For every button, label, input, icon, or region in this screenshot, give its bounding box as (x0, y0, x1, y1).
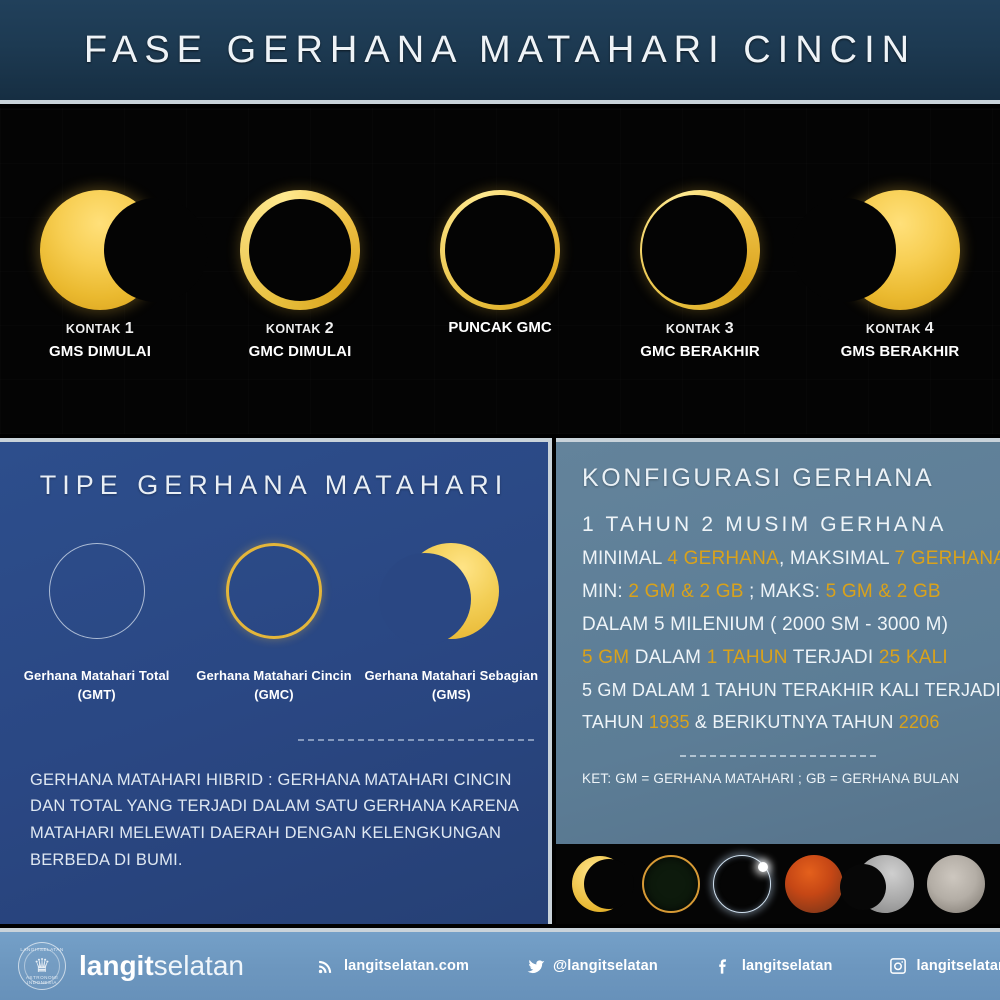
social-label: langitselatanmedia (916, 958, 1000, 974)
type-label: Gerhana Matahari Cincin (GMC) (196, 667, 351, 705)
contact-label: KONTAK (866, 322, 921, 336)
phase-caption: KONTAK 1 GMS DIMULAI (0, 318, 200, 362)
instagram-icon (888, 956, 908, 976)
brand-name: langitselatan (79, 952, 244, 980)
phase-item: KONTAK 4 GMS BERAKHIR (800, 108, 1000, 368)
phase-desc: GMS BERAKHIR (800, 342, 1000, 362)
highlight-run: 5 GM (582, 647, 629, 668)
contact-number: 4 (925, 320, 934, 337)
annular-crescent-photo (571, 855, 629, 913)
highlight-run: 1 TAHUN (707, 647, 788, 668)
header-band: FASE GERHANA MATAHARI CINCIN (0, 0, 1000, 104)
highlight-run: 1935 (649, 712, 690, 732)
type-abbr: (GMC) (196, 686, 351, 705)
config-line-years: TAHUN 1935 & BERIKUTNYA TAHUN 2206 (582, 712, 1000, 733)
text-run: MIN: (582, 581, 628, 602)
type-abbr: (GMT) (24, 686, 170, 705)
social-label: langitselatan.com (344, 958, 469, 974)
partial-lunar-photo (856, 855, 914, 913)
type-name: Gerhana Matahari Cincin (196, 667, 351, 686)
text-run: ; MAKS: (744, 581, 826, 602)
config-line-millennium-range: DALAM 5 MILENIUM ( 2000 SM - 3000 M) (582, 614, 1000, 636)
page-title: FASE GERHANA MATAHARI CINCIN (84, 29, 916, 72)
dark-outline-circle-icon (49, 543, 145, 639)
text-run: , MAKSIMAL (779, 548, 895, 569)
full-moon-photo (927, 855, 985, 913)
eclipse-types-panel: TIPE GERHANA MATAHARI Gerhana Matahari T… (0, 438, 552, 924)
phase-caption: PUNCAK GMC (400, 318, 600, 338)
brand-block[interactable]: LANGITSELATAN ♛ ASTRONOMI INDONESIA lang… (18, 942, 244, 990)
contact-number: 3 (725, 320, 734, 337)
types-row: Gerhana Matahari Total (GMT) Gerhana Mat… (0, 543, 548, 705)
config-line-minmax-eclipses: MINIMAL 4 GERHANA, MAKSIMAL 7 GERHANA (582, 548, 1000, 570)
golden-ring-icon (226, 543, 322, 639)
phase-desc: PUNCAK GMC (400, 318, 600, 338)
annular-ring-thin-icon (440, 190, 560, 310)
contact-number: 1 (125, 320, 134, 337)
type-name: Gerhana Matahari Sebagian (364, 667, 538, 686)
type-name: Gerhana Matahari Total (24, 667, 170, 686)
contact-label: KONTAK (266, 322, 321, 336)
annular-ring-thick-icon (240, 190, 360, 310)
config-subtitle: 1 TAHUN 2 MUSIM GERHANA (582, 513, 1000, 537)
rss-icon (316, 956, 336, 976)
highlight-run: 4 GERHANA (667, 548, 779, 569)
contact-label: KONTAK (666, 322, 721, 336)
types-panel-title: TIPE GERHANA MATAHARI (0, 470, 548, 501)
social-links: langitselatan.com @langitselatan langits… (316, 956, 1000, 976)
social-link-twitter[interactable]: @langitselatan (525, 956, 658, 976)
config-line-min-max-gm-gb: MIN: 2 GM & 2 GB ; MAKS: 5 GM & 2 GB (582, 581, 1000, 603)
type-item-gms: Gerhana Matahari Sebagian (GMS) (363, 543, 540, 705)
footer-bar: LANGITSELATAN ♛ ASTRONOMI INDONESIA lang… (0, 928, 1000, 1000)
golden-crescent-icon (403, 543, 499, 639)
brand-name-light: selatan (154, 950, 244, 981)
hybrid-eclipse-note: GERHANA MATAHARI HIBRID : GERHANA MATAHA… (30, 767, 522, 874)
text-run: TAHUN (582, 712, 649, 732)
phase-caption: KONTAK 4 GMS BERAKHIR (800, 318, 1000, 362)
highlight-run: 2 GM & 2 GB (628, 581, 743, 602)
partial-sun-bite-left-icon (840, 190, 960, 310)
text-run: DALAM (629, 647, 706, 668)
total-corona-photo (713, 855, 771, 913)
eclipse-phases-section: KONTAK 1 GMS DIMULAI KONTAK 2 GMC DIMULA… (0, 108, 1000, 434)
annular-ring-photo (642, 855, 700, 913)
text-run: & BERIKUTNYA TAHUN (690, 712, 899, 732)
eclipse-config-panel: KONFIGURASI GERHANA 1 TAHUN 2 MUSIM GERH… (556, 438, 1000, 924)
legend-note: KET: GM = GERHANA MATAHARI ; GB = GERHAN… (582, 771, 1000, 786)
type-abbr: (GMS) (364, 686, 538, 705)
annular-ring-offset-right-icon (640, 190, 760, 310)
phase-desc: GMC DIMULAI (200, 342, 400, 362)
phase-item: PUNCAK GMC (400, 108, 600, 368)
langitselatan-seal-logo: LANGITSELATAN ♛ ASTRONOMI INDONESIA (18, 942, 66, 990)
brand-name-bold: langit (79, 950, 154, 981)
highlight-run: 25 KALI (879, 647, 948, 668)
highlight-run: 7 GERHANA (895, 548, 1000, 569)
type-label: Gerhana Matahari Sebagian (GMS) (364, 667, 538, 705)
contact-number: 2 (325, 320, 334, 337)
type-label: Gerhana Matahari Total (GMT) (24, 667, 170, 705)
highlight-run: 2206 (899, 712, 940, 732)
contact-label: KONTAK (66, 322, 121, 336)
dashed-divider (298, 739, 534, 741)
phase-caption: KONTAK 2 GMC DIMULAI (200, 318, 400, 362)
phase-item: KONTAK 3 GMC BERAKHIR (600, 108, 800, 368)
social-label: langitselatan (742, 958, 833, 974)
type-item-gmt: Gerhana Matahari Total (GMT) (8, 543, 185, 705)
config-panel-title: KONFIGURASI GERHANA (582, 464, 1000, 493)
phase-caption: KONTAK 3 GMC BERAKHIR (600, 318, 800, 362)
partial-sun-bite-right-icon (40, 190, 160, 310)
facebook-icon (714, 956, 734, 976)
type-item-gmc: Gerhana Matahari Cincin (GMC) (185, 543, 362, 705)
social-label: @langitselatan (553, 958, 658, 974)
social-link-website[interactable]: langitselatan.com (316, 956, 469, 976)
phase-desc: GMS DIMULAI (0, 342, 200, 362)
config-line-5gm-frequency: 5 GM DALAM 1 TAHUN TERJADI 25 KALI (582, 647, 1000, 669)
text-run: MINIMAL (582, 548, 667, 569)
phase-item: KONTAK 1 GMS DIMULAI (0, 108, 200, 368)
dashed-divider (680, 755, 876, 757)
text-run: TERJADI (788, 647, 879, 668)
phases-row: KONTAK 1 GMS DIMULAI KONTAK 2 GMC DIMULA… (0, 108, 1000, 368)
twitter-icon (525, 956, 545, 976)
config-line-last-occurrence: 5 GM DALAM 1 TAHUN TERAKHIR KALI TERJADI (582, 680, 1000, 701)
eclipse-photo-strip (556, 844, 1000, 924)
seal-bottom-text: ASTRONOMI INDONESIA (19, 975, 65, 985)
social-link-instagram[interactable]: langitselatanmedia (888, 956, 1000, 976)
phase-item: KONTAK 2 GMC DIMULAI (200, 108, 400, 368)
blood-moon-photo (785, 855, 843, 913)
infographic-page: FASE GERHANA MATAHARI CINCIN KONTAK 1 GM… (0, 0, 1000, 1000)
highlight-run: 5 GM & 2 GB (826, 581, 941, 602)
social-link-facebook[interactable]: langitselatan (714, 956, 833, 976)
phase-desc: GMC BERAKHIR (600, 342, 800, 362)
